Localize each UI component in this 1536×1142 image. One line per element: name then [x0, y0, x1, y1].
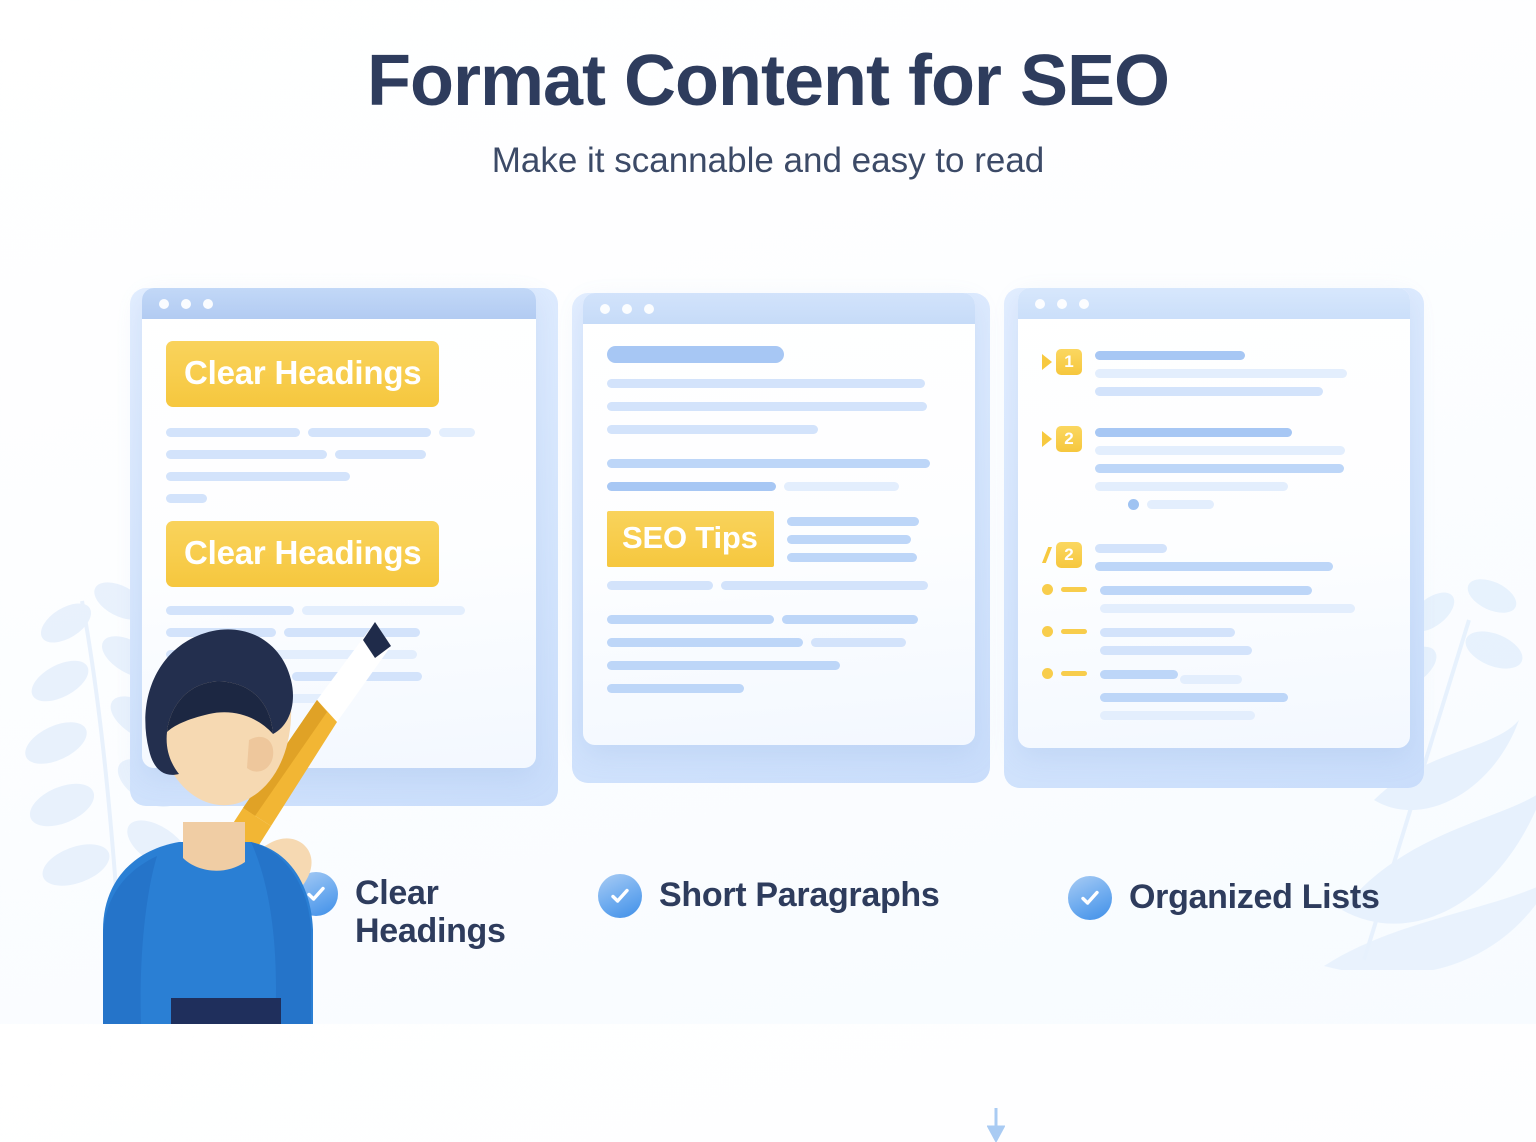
- seo-tips-chip: SEO Tips: [607, 511, 774, 567]
- caption-label: Short Paragraphs: [659, 874, 940, 914]
- window-dot-icon: [1035, 299, 1045, 309]
- caption-short-paragraphs: Short Paragraphs: [598, 874, 1018, 918]
- window-dot-icon: [159, 299, 169, 309]
- dash-icon: [1061, 629, 1087, 634]
- short-paragraphs-card[interactable]: SEO Tips: [583, 293, 975, 745]
- window-dot-icon: [622, 304, 632, 314]
- bullet-dot-icon: [1128, 499, 1139, 510]
- bullet-marker: [1042, 624, 1087, 637]
- list-number: 1: [1056, 349, 1082, 375]
- window-dot-icon: [600, 304, 610, 314]
- heading-chip: Clear Headings: [166, 521, 439, 587]
- list-item: [1042, 666, 1386, 720]
- bullet-marker: [1042, 582, 1087, 595]
- card-body: SEO Tips: [583, 324, 975, 703]
- bullet-dot-icon: [1042, 584, 1053, 595]
- slash-icon: [1042, 547, 1052, 563]
- page-title: Format Content for SEO: [0, 44, 1536, 120]
- check-circle-icon: [1068, 876, 1112, 920]
- person-writing-illustration: [75, 600, 415, 1024]
- dash-icon: [1061, 671, 1087, 676]
- list-item: 1: [1042, 347, 1386, 396]
- window-dot-icon: [644, 304, 654, 314]
- numbered-marker: 2: [1042, 540, 1082, 568]
- check-circle-icon: [598, 874, 642, 918]
- triangle-right-icon: [1042, 431, 1052, 447]
- heading-chip: Clear Headings: [166, 341, 439, 407]
- triangle-right-icon: [1042, 354, 1052, 370]
- list-number: 2: [1056, 426, 1082, 452]
- organized-lists-card[interactable]: 1 2: [1018, 288, 1410, 748]
- infographic-canvas: Format Content for SEO Make it scannable…: [0, 0, 1536, 1024]
- card-body: 1 2: [1018, 319, 1410, 730]
- bullet-dot-icon: [1042, 626, 1053, 637]
- list-item: [1042, 582, 1386, 613]
- list-number: 2: [1056, 542, 1082, 568]
- list-item: 2: [1042, 540, 1386, 571]
- numbered-marker: 1: [1042, 347, 1082, 375]
- window-titlebar: [142, 288, 536, 319]
- list-item: [1042, 624, 1386, 655]
- window-dot-icon: [181, 299, 191, 309]
- numbered-marker: 2: [1042, 424, 1082, 452]
- bullet-dot-icon: [1042, 668, 1053, 679]
- bullet-marker: [1042, 666, 1087, 679]
- window-titlebar: [1018, 288, 1410, 319]
- list-item: 2: [1042, 424, 1386, 491]
- caption-label: Organized Lists: [1129, 876, 1380, 916]
- window-titlebar: [583, 293, 975, 324]
- down-arrow-icon: [987, 1108, 1005, 1142]
- caption-organized-lists: Organized Lists: [1068, 876, 1468, 920]
- window-dot-icon: [203, 299, 213, 309]
- header: Format Content for SEO Make it scannable…: [0, 44, 1536, 180]
- page-subtitle: Make it scannable and easy to read: [0, 142, 1536, 181]
- dash-icon: [1061, 587, 1087, 592]
- window-dot-icon: [1079, 299, 1089, 309]
- window-dot-icon: [1057, 299, 1067, 309]
